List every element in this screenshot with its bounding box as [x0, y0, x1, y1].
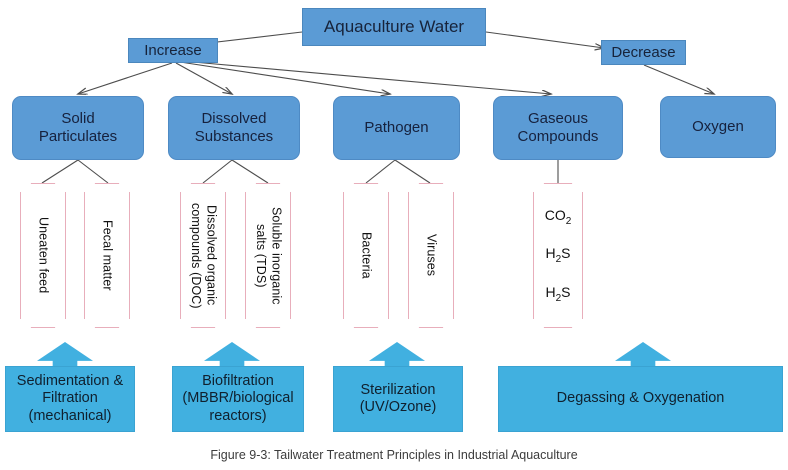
item-label: Bacteria	[358, 232, 373, 279]
node-label: Oxygen	[692, 118, 744, 136]
edge-increase-to-gaseous	[182, 61, 551, 94]
treatment-label: Degassing & Oxygenation	[557, 390, 725, 407]
item-dissolved-organic-compounds[interactable]: Dissolved organic compounds (DOC)	[180, 183, 226, 328]
item-viruses[interactable]: Viruses	[408, 183, 454, 328]
gas-h2s-1: H2S	[545, 245, 570, 266]
treatment-label: Biofiltration (MBBR/biological reactors)	[182, 373, 293, 424]
treatment-sterilization[interactable]: Sterilization (UV/Ozone)	[333, 366, 463, 432]
edge-solid-to-fecal-matter	[78, 160, 108, 183]
edge-solid-to-uneaten-feed	[42, 160, 78, 183]
edge-decrease-to-oxygen	[644, 65, 714, 94]
edge-pathogen-to-viruses	[395, 160, 430, 183]
node-label: Solid Particulates	[39, 110, 117, 145]
node-gaseous-compounds[interactable]: Gaseous Compounds	[493, 96, 623, 160]
item-uneaten-feed[interactable]: Uneaten feed	[20, 183, 66, 328]
item-gas-list: CO2 H2S H2S	[545, 207, 572, 305]
item-label: Soluble inorganic salts (TDS)	[253, 207, 284, 305]
edge-increase-to-pathogen	[180, 62, 390, 94]
node-label: Pathogen	[364, 119, 428, 137]
node-oxygen[interactable]: Oxygen	[660, 96, 776, 158]
node-pathogen[interactable]: Pathogen	[333, 96, 460, 160]
node-decrease[interactable]: Decrease	[601, 40, 686, 65]
item-label: Viruses	[423, 234, 438, 276]
edge-increase-to-dissolved	[176, 63, 232, 94]
treatment-degassing-oxygenation[interactable]: Degassing & Oxygenation	[498, 366, 783, 432]
treatment-label: Sterilization (UV/Ozone)	[360, 382, 437, 416]
diagram-canvas: Aquaculture Water Increase Decrease Soli…	[0, 0, 788, 470]
node-label: Aquaculture Water	[324, 17, 464, 37]
item-bacteria[interactable]: Bacteria	[343, 183, 389, 328]
item-soluble-inorganic-salts[interactable]: Soluble inorganic salts (TDS)	[245, 183, 291, 328]
edge-increase-to-solid	[78, 63, 172, 94]
item-gases[interactable]: CO2 H2S H2S	[533, 183, 583, 328]
figure-caption: Figure 9-3: Tailwater Treatment Principl…	[0, 448, 788, 462]
gas-co2: CO2	[545, 207, 572, 228]
node-dissolved-substances[interactable]: Dissolved Substances	[168, 96, 300, 160]
node-label: Increase	[144, 42, 202, 60]
treatment-biofiltration[interactable]: Biofiltration (MBBR/biological reactors)	[172, 366, 304, 432]
node-label: Dissolved Substances	[195, 110, 273, 145]
edge-pathogen-to-bacteria	[366, 160, 395, 183]
gas-h2s-2: H2S	[545, 284, 570, 305]
node-increase[interactable]: Increase	[128, 38, 218, 63]
item-fecal-matter[interactable]: Fecal matter	[84, 183, 130, 328]
item-label: Dissolved organic compounds (DOC)	[188, 203, 219, 309]
node-aquaculture-water[interactable]: Aquaculture Water	[302, 8, 486, 46]
node-label: Decrease	[611, 44, 675, 62]
item-label: Fecal matter	[99, 220, 114, 291]
edge-root-to-decrease	[486, 32, 604, 48]
edge-dissolved-to-doc	[203, 160, 232, 183]
edge-dissolved-to-tds	[232, 160, 268, 183]
node-label: Gaseous Compounds	[518, 110, 599, 145]
treatment-sedimentation-filtration[interactable]: Sedimentation & Filtration (mechanical)	[5, 366, 135, 432]
treatment-label: Sedimentation & Filtration (mechanical)	[17, 373, 123, 424]
node-solid-particulates[interactable]: Solid Particulates	[12, 96, 144, 160]
item-label: Uneaten feed	[35, 217, 50, 293]
